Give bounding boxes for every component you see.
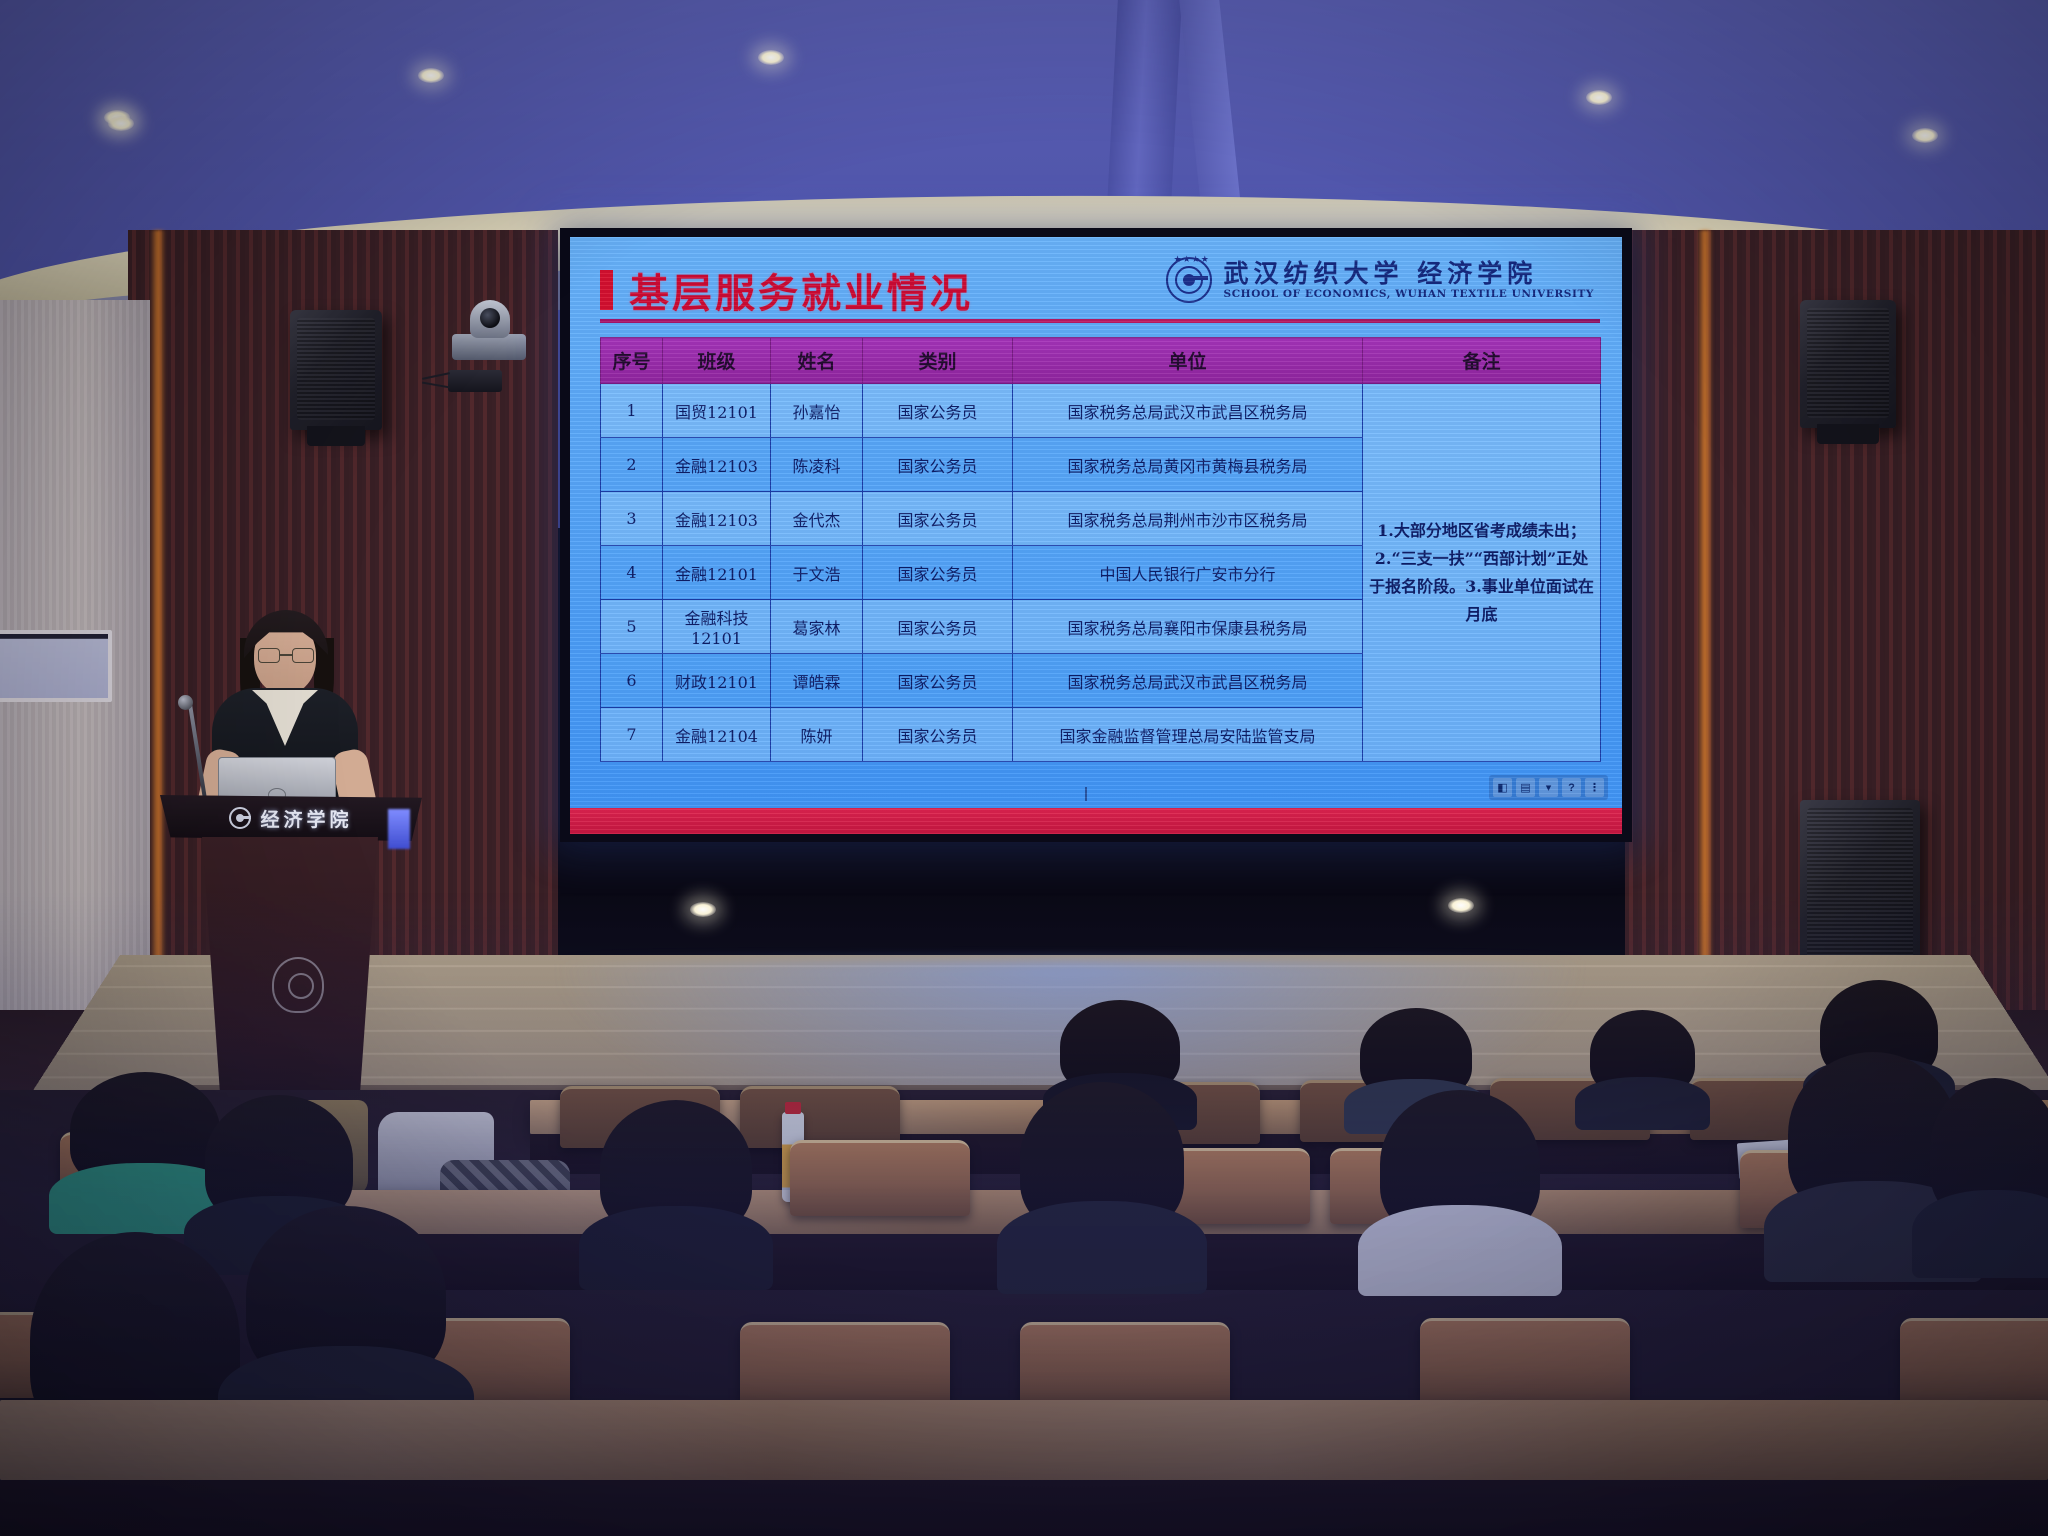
school-logo-texts: 武汉纺织大学 经济学院 SCHOOL OF ECONOMICS, WUHAN T… xyxy=(1224,261,1594,300)
column-header-name: 姓名 xyxy=(771,338,863,384)
chair xyxy=(1020,1322,1230,1410)
cell-category: 国家公务员 xyxy=(863,438,1013,492)
led-display-screen: 基层服务就业情况 ★★★★ 武汉纺织大学 经济学院 SCHOOL OF ECON… xyxy=(560,228,1632,842)
speaker-grille xyxy=(1807,308,1889,418)
cell-unit: 国家金融监督管理总局安陆监管支局 xyxy=(1013,708,1363,762)
table-row: 1 国贸12101 孙嘉怡 国家公务员 国家税务总局武汉市武昌区税务局 1.大部… xyxy=(601,384,1601,438)
cell-class: 金融12101 xyxy=(663,546,771,600)
ceiling-downlight xyxy=(1912,128,1938,143)
slide-title-row: 基层服务就业情况 xyxy=(600,261,973,319)
wall-speaker-right xyxy=(1800,300,1896,428)
chair xyxy=(790,1140,970,1216)
school-logo-block: ★★★★ 武汉纺织大学 经济学院 SCHOOL OF ECONOMICS, WU… xyxy=(1166,257,1594,303)
pointer-options-icon[interactable]: ◧ xyxy=(1493,778,1512,797)
lectern-edge-light xyxy=(388,809,410,849)
wall-notice-board xyxy=(0,630,112,702)
person-shoulders xyxy=(997,1201,1207,1294)
cell-no: 3 xyxy=(601,492,663,546)
presentation-slide: 基层服务就业情况 ★★★★ 武汉纺织大学 经济学院 SCHOOL OF ECON… xyxy=(570,237,1622,834)
person-shoulders xyxy=(579,1206,774,1290)
column-header-category: 类别 xyxy=(863,338,1013,384)
audience-member xyxy=(1590,1010,1695,1130)
person-shoulders xyxy=(1575,1077,1709,1130)
cell-name: 于文浩 xyxy=(771,546,863,600)
column-header-class: 班级 xyxy=(663,338,771,384)
dropdown-arrow-icon[interactable]: ▾ xyxy=(1539,778,1558,797)
lectern-nameplate: 经济学院 xyxy=(160,801,422,835)
speaker-bracket xyxy=(1817,424,1878,444)
speaker-grille xyxy=(297,318,375,420)
title-accent-bar-icon xyxy=(600,270,613,310)
audience-member xyxy=(1380,1090,1540,1296)
cell-name: 陈妍 xyxy=(771,708,863,762)
cell-category: 国家公务员 xyxy=(863,600,1013,654)
chair xyxy=(1900,1318,2048,1406)
cell-unit: 国家税务总局武汉市武昌区税务局 xyxy=(1013,654,1363,708)
presenter-glasses-icon xyxy=(258,648,314,663)
slide-footer-bar xyxy=(570,808,1622,834)
cell-class: 金融12103 xyxy=(663,492,771,546)
person-shoulders xyxy=(1912,1190,2048,1278)
cell-class: 金融12103 xyxy=(663,438,771,492)
cell-unit: 中国人民银行广安市分行 xyxy=(1013,546,1363,600)
cell-category: 国家公务员 xyxy=(863,708,1013,762)
column-header-remark: 备注 xyxy=(1363,338,1601,384)
lectern-label-text: 经济学院 xyxy=(260,805,352,832)
column-header-no: 序号 xyxy=(601,338,663,384)
table-header: 序号 班级 姓名 类别 单位 备注 xyxy=(601,338,1601,384)
lectern-body xyxy=(190,837,390,1122)
cell-name: 金代杰 xyxy=(771,492,863,546)
crest-bar xyxy=(1188,276,1208,280)
cell-category: 国家公务员 xyxy=(863,546,1013,600)
more-options-icon[interactable]: ⋮ xyxy=(1585,778,1604,797)
cell-no: 5 xyxy=(601,600,663,654)
cell-name: 陈凌科 xyxy=(771,438,863,492)
ceiling-downlight xyxy=(690,902,716,917)
ceiling-downlight xyxy=(108,116,134,131)
cell-no: 1 xyxy=(601,384,663,438)
cell-class: 金融12104 xyxy=(663,708,771,762)
speaker-bracket xyxy=(307,426,366,446)
audience-member xyxy=(1020,1082,1184,1294)
cell-no: 6 xyxy=(601,654,663,708)
chair xyxy=(740,1086,900,1148)
desk-row-front-shadow xyxy=(0,1480,2048,1536)
person-shoulders xyxy=(1358,1205,1563,1296)
help-icon[interactable]: ? xyxy=(1562,778,1581,797)
cell-no: 7 xyxy=(601,708,663,762)
cell-class: 财政12101 xyxy=(663,654,771,708)
cell-no: 4 xyxy=(601,546,663,600)
cell-unit: 国家税务总局襄阳市保康县税务局 xyxy=(1013,600,1363,654)
desk-row-front xyxy=(0,1400,2048,1480)
title-underline xyxy=(600,319,1600,323)
camera-lens-icon xyxy=(480,308,500,328)
wuhan-textile-university-crest-icon: ★★★★ xyxy=(1166,257,1212,303)
cell-class: 金融科技12101 xyxy=(663,600,771,654)
ceiling-downlight xyxy=(418,68,444,83)
cell-category: 国家公务员 xyxy=(863,492,1013,546)
ceiling-downlight xyxy=(1448,898,1474,913)
glasses-lens-right xyxy=(292,648,314,663)
cell-category: 国家公务员 xyxy=(863,384,1013,438)
cell-remark: 1.大部分地区省考成绩未出；2.“三支一扶”“西部计划”正处于报名阶段。3.事业… xyxy=(1363,384,1601,762)
glasses-lens-left xyxy=(258,648,280,663)
school-name-en: SCHOOL OF ECONOMICS, WUHAN TEXTILE UNIVE… xyxy=(1224,288,1594,300)
employment-table: 序号 班级 姓名 类别 单位 备注 1 国贸12101 孙嘉怡 国家公务员 国家 xyxy=(600,337,1601,762)
slide-title: 基层服务就业情况 xyxy=(629,261,973,319)
lecture-hall-scene: 基层服务就业情况 ★★★★ 武汉纺织大学 经济学院 SCHOOL OF ECON… xyxy=(0,0,2048,1536)
cell-unit: 国家税务总局黄冈市黄梅县税务局 xyxy=(1013,438,1363,492)
cell-unit: 国家税务总局武汉市武昌区税务局 xyxy=(1013,384,1363,438)
cell-unit: 国家税务总局荆州市沙市区税务局 xyxy=(1013,492,1363,546)
glasses-bridge xyxy=(280,654,292,656)
audience-member xyxy=(600,1100,752,1290)
audience-member xyxy=(1930,1078,2048,1278)
cell-class: 国贸12101 xyxy=(663,384,771,438)
cell-category: 国家公务员 xyxy=(863,654,1013,708)
chair xyxy=(740,1322,950,1410)
column-header-unit: 单位 xyxy=(1013,338,1363,384)
slideshow-toolbar[interactable]: ◧ ▤ ▾ ? ⋮ xyxy=(1489,775,1608,800)
wireless-mic-receiver xyxy=(448,370,502,392)
presentation-views-icon[interactable]: ▤ xyxy=(1516,778,1535,797)
ptz-camera xyxy=(452,300,528,362)
table-header-row: 序号 班级 姓名 类别 单位 备注 xyxy=(601,338,1601,384)
table-body: 1 国贸12101 孙嘉怡 国家公务员 国家税务总局武汉市武昌区税务局 1.大部… xyxy=(601,384,1601,762)
cell-name: 谭皓霖 xyxy=(771,654,863,708)
cell-no: 2 xyxy=(601,438,663,492)
audience-member xyxy=(70,1072,220,1234)
wall-speaker-left xyxy=(290,310,382,430)
chair xyxy=(1420,1318,1630,1406)
cell-name: 孙嘉怡 xyxy=(771,384,863,438)
lectern-crest-icon xyxy=(272,957,324,1013)
university-crest-icon xyxy=(229,807,251,829)
ceiling-downlight xyxy=(1586,90,1612,105)
cell-name: 葛家林 xyxy=(771,600,863,654)
text-cursor xyxy=(1085,787,1087,801)
school-name-cn: 武汉纺织大学 经济学院 xyxy=(1224,261,1594,286)
microphone-icon xyxy=(178,695,193,710)
ceiling-downlight xyxy=(758,50,784,65)
